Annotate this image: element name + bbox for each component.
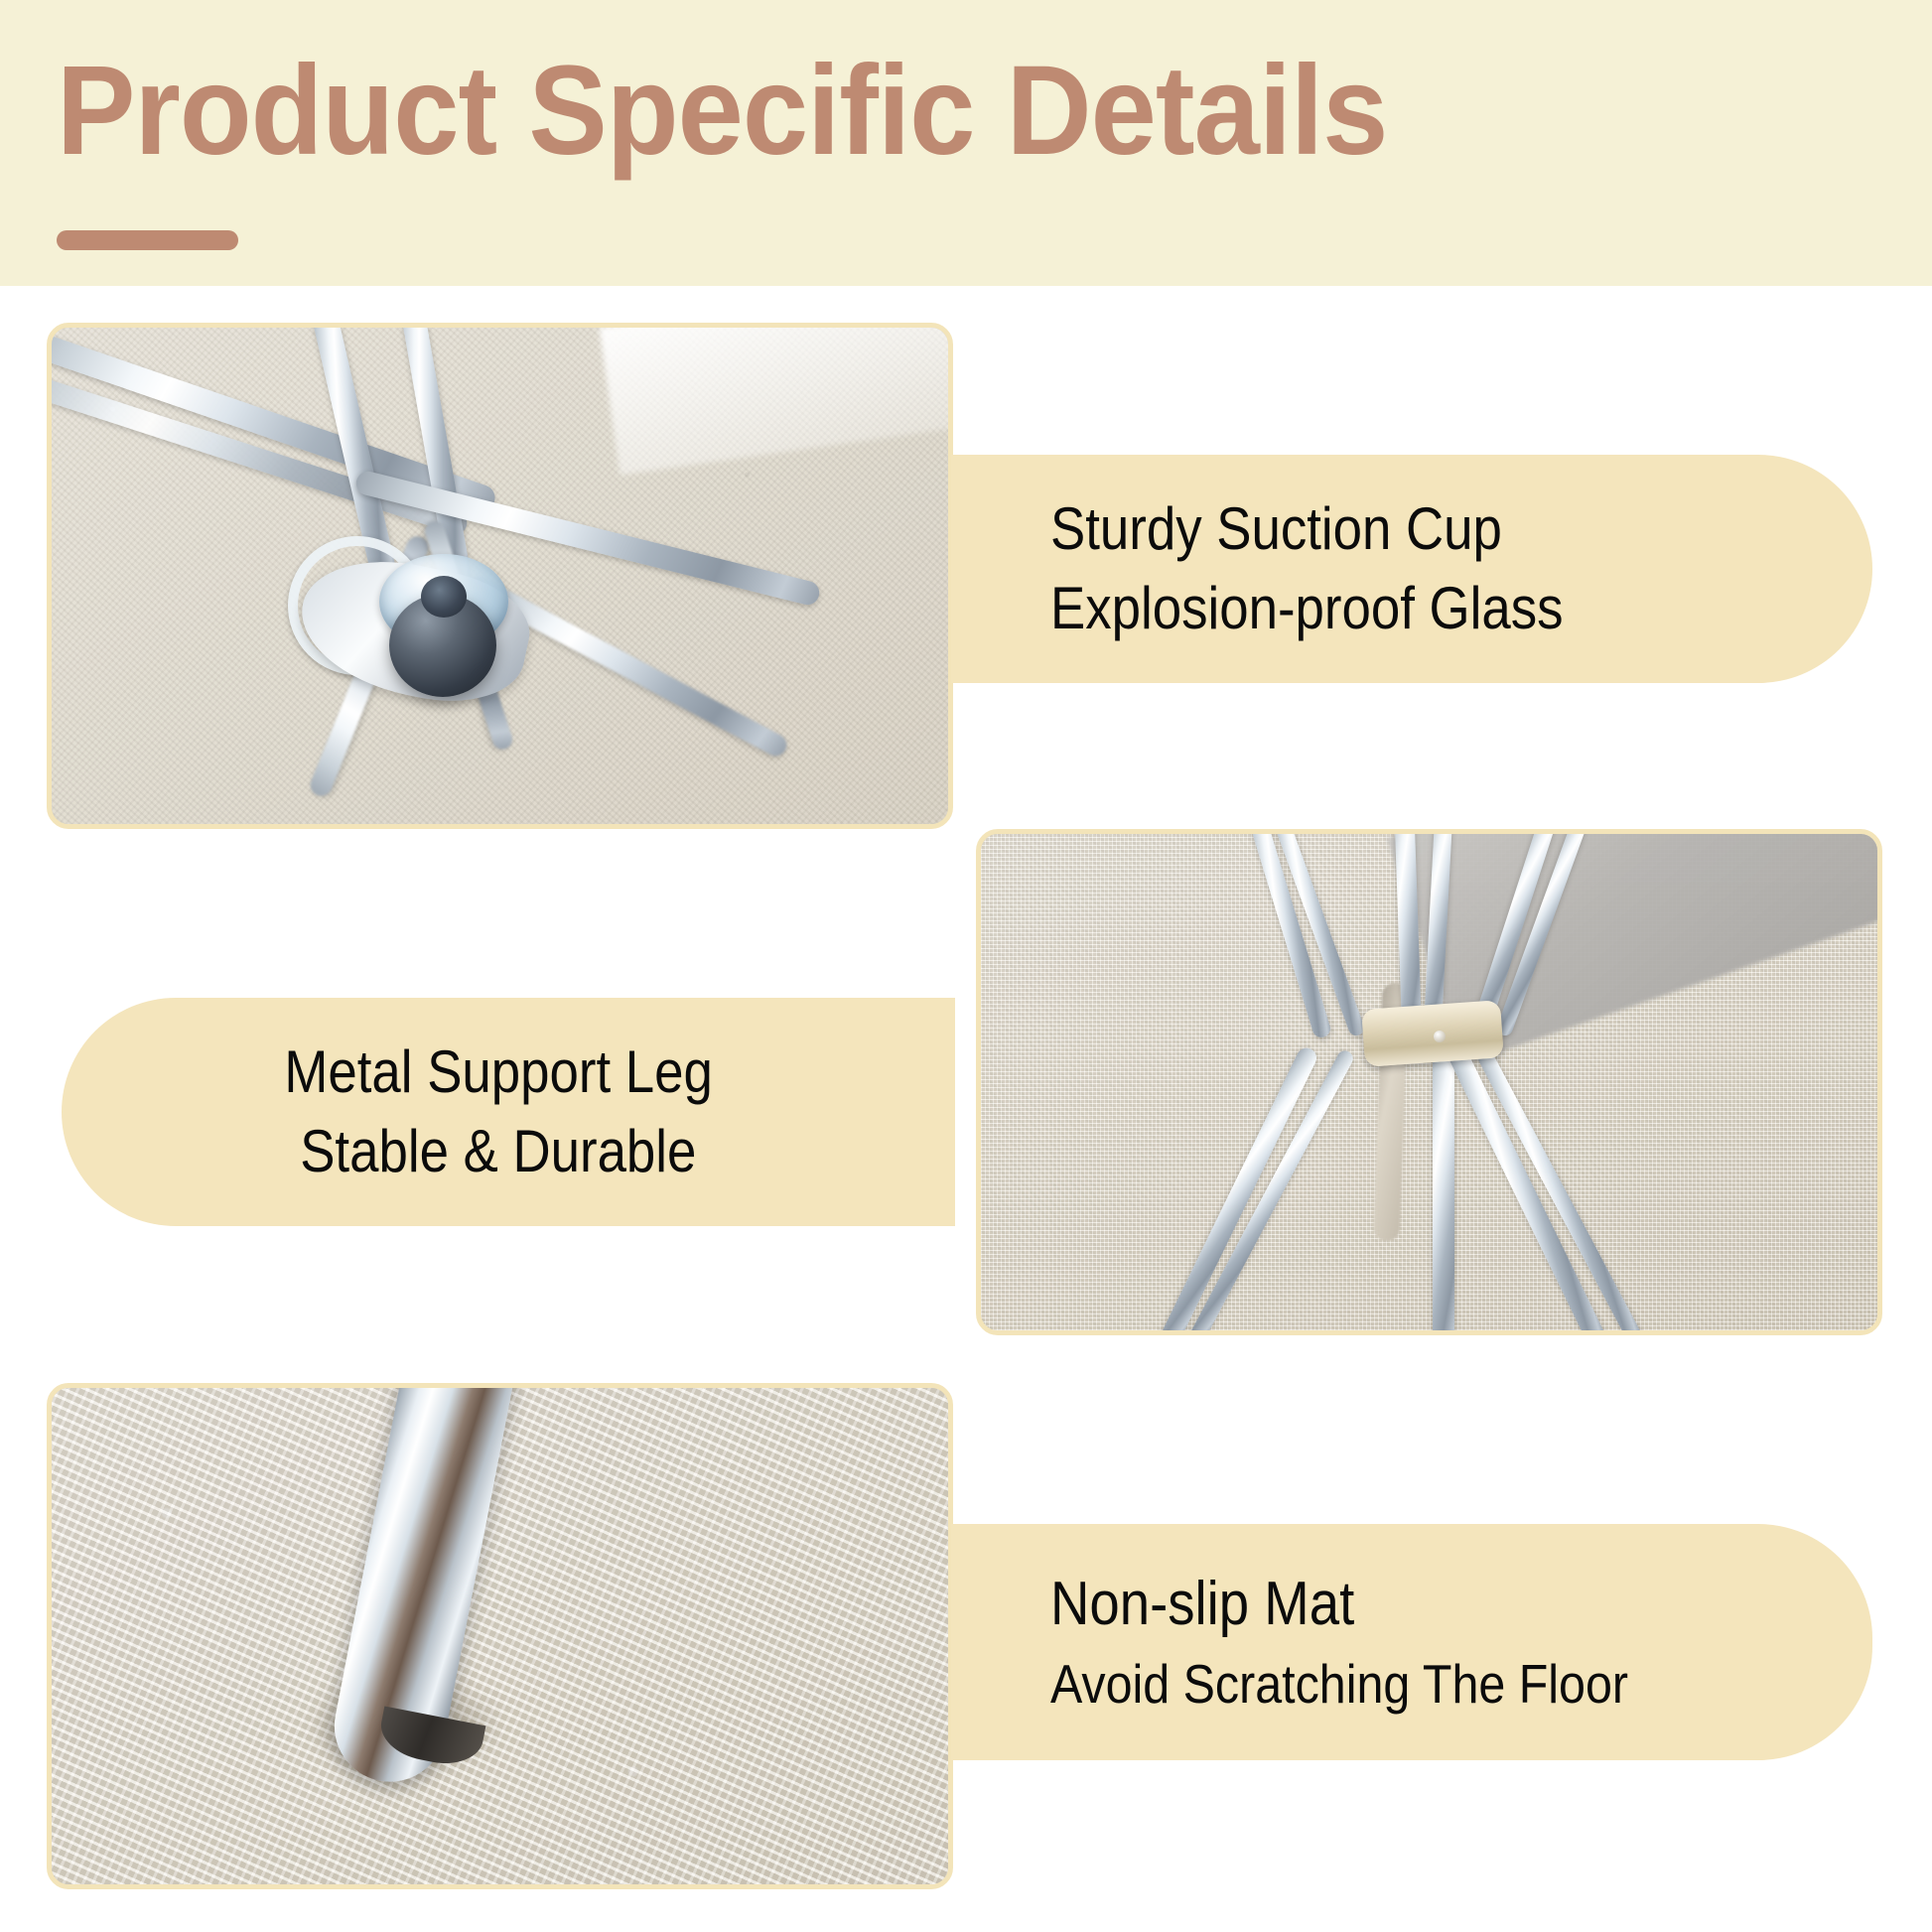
callout-line-secondary: Explosion-proof Glass <box>1050 569 1774 648</box>
callout-suction-cup: Sturdy Suction Cup Explosion-proof Glass <box>951 455 1872 683</box>
callout-line-primary: Non-slip Mat <box>1050 1563 1774 1646</box>
photo-inner-support-leg <box>981 834 1877 1330</box>
feature-photo-suction-cup <box>47 323 953 829</box>
carpet-background-texture <box>52 1388 948 1884</box>
suction-cup-nub <box>421 576 467 618</box>
product-details-infographic: Product Specific Details St <box>0 0 1932 1932</box>
callout-line-secondary: Stable & Durable <box>300 1112 696 1191</box>
photo-inner-nonslip-mat <box>52 1388 948 1884</box>
callout-line-secondary: Avoid Scratching The Floor <box>1050 1646 1774 1722</box>
ring-screw <box>1434 1031 1446 1042</box>
metal-leg <box>1433 1033 1454 1330</box>
header-band: Product Specific Details <box>0 0 1932 286</box>
callout-line-primary: Sturdy Suction Cup <box>1050 489 1774 569</box>
photo-inner-suction-cup <box>52 328 948 824</box>
metal-ring-clamp <box>1361 1000 1504 1067</box>
callout-line-primary: Metal Support Leg <box>284 1033 712 1112</box>
feature-photo-nonslip-mat <box>47 1383 953 1889</box>
page-title: Product Specific Details <box>57 46 1387 177</box>
callout-nonslip-mat: Non-slip Mat Avoid Scratching The Floor <box>951 1524 1872 1760</box>
title-underline-rule <box>57 230 238 250</box>
feature-photo-support-leg <box>976 829 1882 1335</box>
callout-support-leg: Metal Support Leg Stable & Durable <box>62 998 955 1226</box>
